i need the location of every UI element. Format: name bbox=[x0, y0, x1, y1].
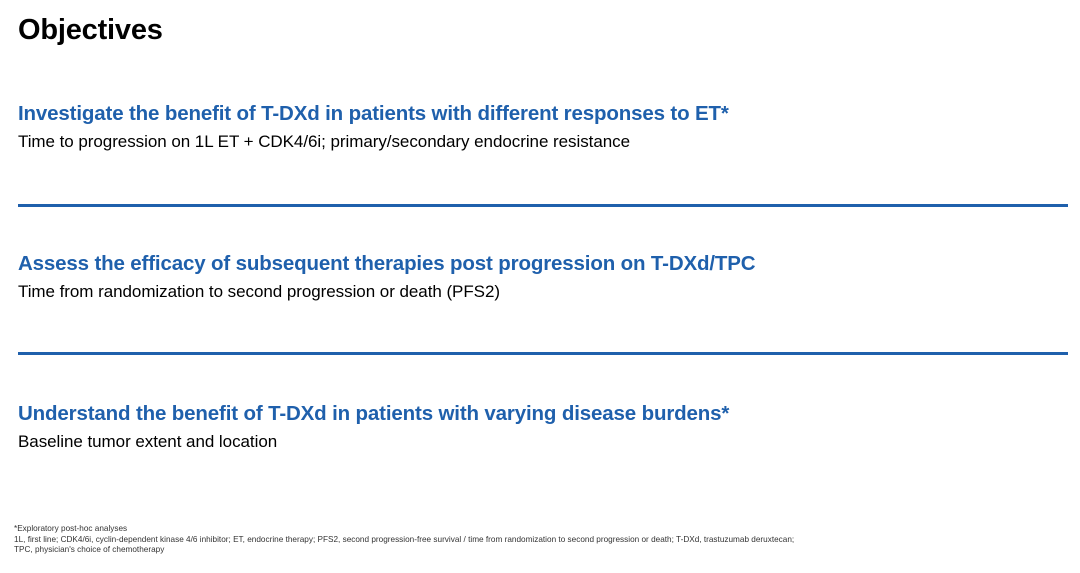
objective-heading-1: Investigate the benefit of T-DXd in pati… bbox=[18, 101, 1068, 126]
objective-body-3: Baseline tumor extent and location bbox=[18, 431, 1068, 453]
slide-canvas: Objectives Investigate the benefit of T-… bbox=[0, 0, 1080, 573]
objective-heading-3: Understand the benefit of T-DXd in patie… bbox=[18, 401, 1068, 426]
section-divider-2 bbox=[18, 352, 1068, 355]
page-title: Objectives bbox=[18, 13, 163, 47]
objective-heading-2: Assess the efficacy of subsequent therap… bbox=[18, 251, 1068, 276]
objective-body-2: Time from randomization to second progre… bbox=[18, 281, 1068, 303]
footnote-line-3: TPC, physician's choice of chemotherapy bbox=[14, 545, 1072, 556]
footnotes: *Exploratory post-hoc analyses 1L, first… bbox=[14, 524, 1072, 556]
objective-block-2: Assess the efficacy of subsequent therap… bbox=[18, 251, 1068, 303]
objective-block-1: Investigate the benefit of T-DXd in pati… bbox=[18, 101, 1068, 153]
section-divider-1 bbox=[18, 204, 1068, 207]
footnote-line-1: *Exploratory post-hoc analyses bbox=[14, 524, 1072, 535]
objective-body-1: Time to progression on 1L ET + CDK4/6i; … bbox=[18, 131, 1068, 153]
objective-block-3: Understand the benefit of T-DXd in patie… bbox=[18, 401, 1068, 453]
footnote-line-2: 1L, first line; CDK4/6i, cyclin-dependen… bbox=[14, 535, 1072, 546]
